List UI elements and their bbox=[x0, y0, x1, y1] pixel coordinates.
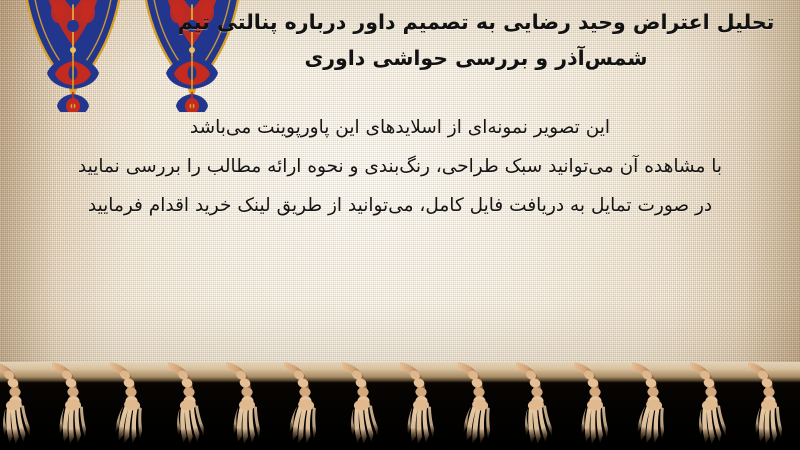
body-line-2: با مشاهده آن می‌توانید سبک طراحی، رنگ‌بن… bbox=[10, 147, 790, 186]
fringe-tassel bbox=[748, 362, 794, 450]
fringe-tassel bbox=[0, 362, 40, 450]
fringe-tassel bbox=[284, 362, 330, 450]
fringe-tassel bbox=[226, 362, 272, 450]
fringe-tassel bbox=[400, 362, 446, 450]
fringe-tassel bbox=[690, 362, 736, 450]
fringe-tassel bbox=[110, 362, 156, 450]
title-line-1: تحلیل اعتراض وحید رضایی به تصمیم داور در… bbox=[166, 4, 786, 40]
title-line-2: شمس‌آذر و بررسی حواشی داوری bbox=[166, 40, 786, 76]
body-line-1: این تصویر نمونه‌ای از اسلایدهای این پاور… bbox=[10, 108, 790, 147]
fringe-tassel bbox=[632, 362, 678, 450]
body-line-3: در صورت تمایل به دریافت فایل کامل، می‌تو… bbox=[10, 186, 790, 225]
fringe-tassel bbox=[342, 362, 388, 450]
fringe-tassel bbox=[458, 362, 504, 450]
slide-title: تحلیل اعتراض وحید رضایی به تصمیم داور در… bbox=[166, 4, 786, 76]
fringe-tassel bbox=[516, 362, 562, 450]
fringe-tassel bbox=[52, 362, 98, 450]
slide-body-text: این تصویر نمونه‌ای از اسلایدهای این پاور… bbox=[10, 108, 790, 225]
fringe-tassel bbox=[574, 362, 620, 450]
slide-canvas: تحلیل اعتراض وحید رضایی به تصمیم داور در… bbox=[0, 0, 800, 450]
fringe-tassel bbox=[168, 362, 214, 450]
carpet-fringe-band bbox=[0, 362, 800, 450]
